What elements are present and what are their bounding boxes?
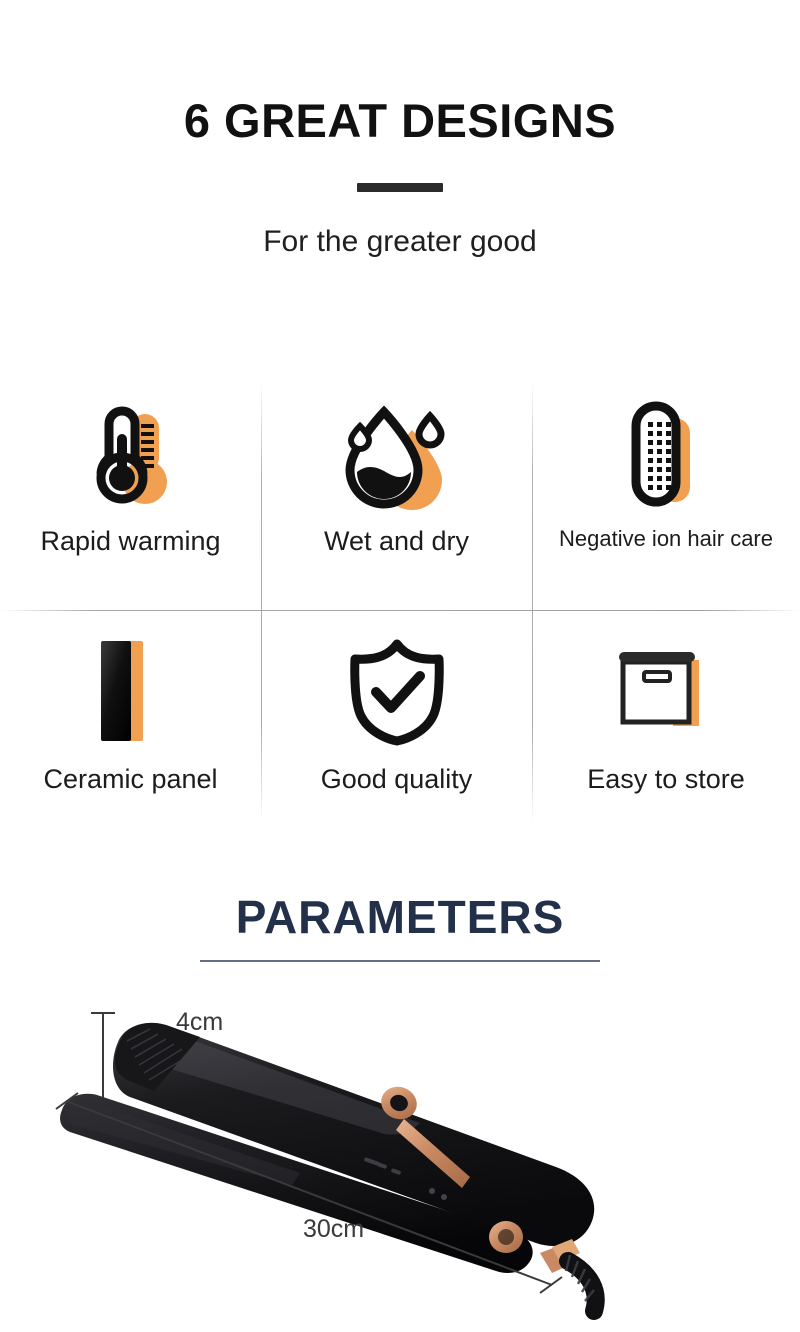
storage-box-icon [611, 632, 721, 752]
height-dimension-label: 4cm [176, 1008, 223, 1037]
feature-cell-ceramic-panel: Ceramic panel [0, 610, 261, 822]
hair-straightener-illustration [0, 985, 800, 1327]
thermometer-icon [79, 396, 183, 516]
feature-label: Negative ion hair care [559, 528, 773, 550]
page-title: 6 GREAT DESIGNS [0, 96, 800, 145]
feature-label: Easy to store [587, 766, 745, 793]
ion-panel-icon [624, 396, 708, 516]
width-dimension-label: 30cm [303, 1215, 364, 1244]
feature-label: Wet and dry [324, 528, 469, 555]
title-divider-bar [357, 183, 443, 192]
feature-label: Rapid warming [40, 528, 220, 555]
feature-label: Ceramic panel [43, 766, 217, 793]
parameters-underline [200, 960, 600, 962]
parameters-section: PARAMETERS [0, 890, 800, 962]
hero-section: 6 GREAT DESIGNS For the greater good [0, 0, 800, 259]
feature-cell-good-quality: Good quality [261, 610, 532, 822]
product-infographic-page: 6 GREAT DESIGNS For the greater good [0, 0, 800, 1327]
feature-cell-easy-to-store: Easy to store [532, 610, 800, 822]
feature-cell-negative-ion: Negative ion hair care [532, 382, 800, 610]
product-image-area: 4cm 30cm [0, 985, 800, 1327]
parameters-title: PARAMETERS [0, 890, 800, 944]
height-dimension-line [91, 1013, 115, 1105]
feature-cell-wet-and-dry: Wet and dry [261, 382, 532, 610]
feature-label: Good quality [321, 766, 473, 793]
feature-cell-rapid-warming: Rapid warming [0, 382, 261, 610]
shield-check-icon [345, 632, 449, 752]
water-drop-icon [338, 396, 456, 516]
page-subtitle: For the greater good [0, 225, 800, 259]
ceramic-plate-icon [91, 632, 171, 752]
feature-grid: Rapid warming [0, 382, 800, 822]
